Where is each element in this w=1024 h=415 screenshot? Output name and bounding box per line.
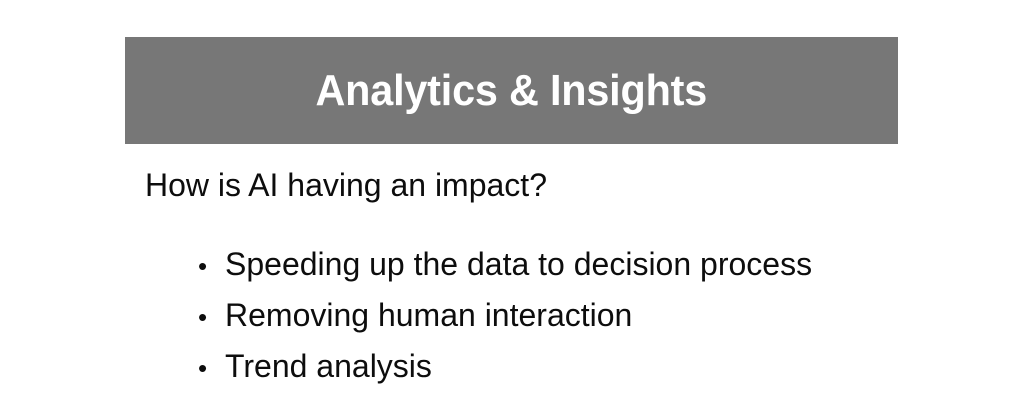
title-banner: Analytics & Insights: [125, 37, 898, 144]
lead-question: How is AI having an impact?: [145, 168, 547, 203]
bullet-point-icon: •: [198, 241, 225, 292]
list-item: • Removing human interaction: [198, 290, 812, 341]
list-item: • Speeding up the data to decision proce…: [198, 239, 812, 290]
bullet-point-icon: •: [198, 343, 225, 394]
list-item-label: Removing human interaction: [225, 290, 632, 341]
list-item-label: Speeding up the data to decision process: [225, 239, 812, 290]
list-item: • Trend analysis: [198, 341, 812, 392]
bullet-list: • Speeding up the data to decision proce…: [198, 239, 812, 392]
slide-title: Analytics & Insights: [316, 69, 708, 113]
bullet-point-icon: •: [198, 292, 225, 343]
list-item-label: Trend analysis: [225, 341, 432, 392]
slide-canvas: Analytics & Insights How is AI having an…: [0, 0, 1024, 415]
